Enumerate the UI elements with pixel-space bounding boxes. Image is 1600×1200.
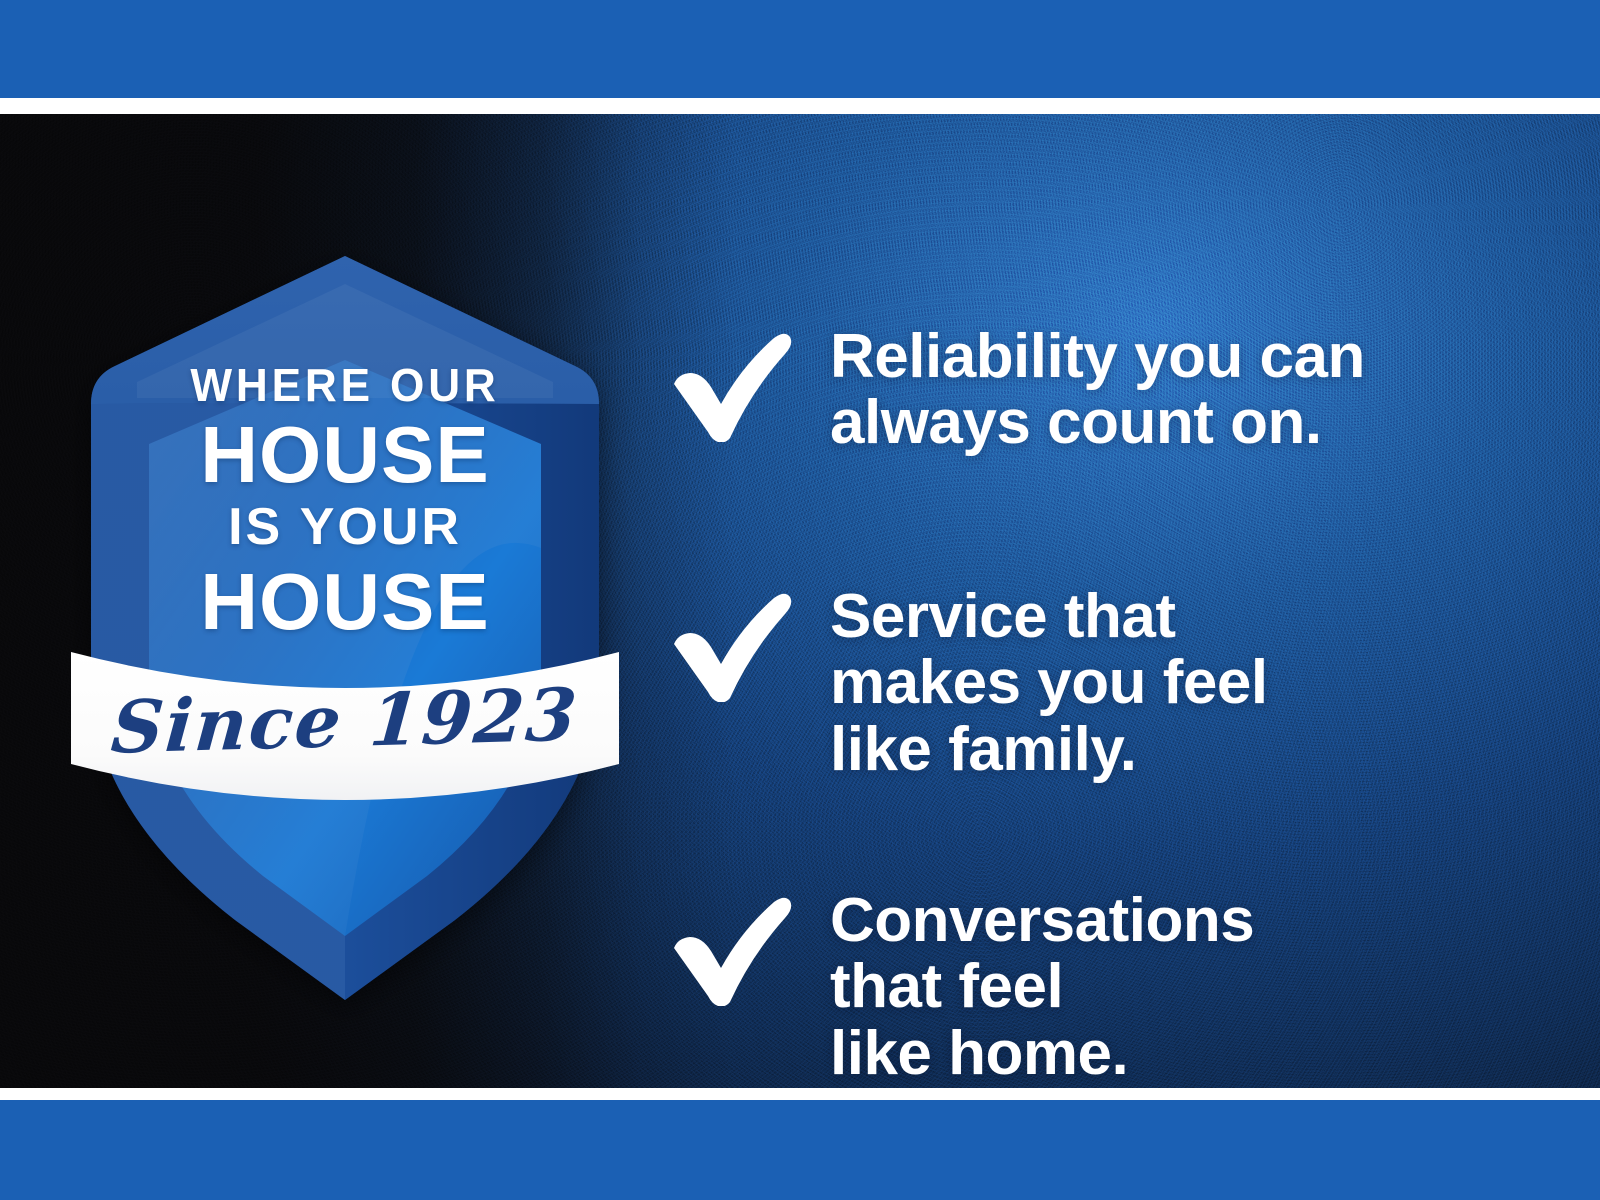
promo-graphic: WHERE OUR HOUSE IS YOUR HOUSE Since 1923… xyxy=(0,0,1600,1200)
main-stage: WHERE OUR HOUSE IS YOUR HOUSE Since 1923… xyxy=(0,114,1600,1088)
checklist-item-text: Reliability you can always count on. xyxy=(830,324,1365,457)
check-mark-icon xyxy=(668,330,794,442)
bottom-white-divider xyxy=(0,1088,1600,1100)
top-white-divider xyxy=(0,98,1600,114)
checklist-item-text: Service that makes you feel like family. xyxy=(830,584,1268,783)
checklist-item: Conversations that feel like home. xyxy=(668,888,1254,1087)
check-mark-icon xyxy=(668,894,794,1006)
check-mark-icon xyxy=(668,590,794,702)
checklist-item: Reliability you can always count on. xyxy=(668,324,1365,457)
top-brand-bar xyxy=(0,0,1600,98)
benefits-checklist: Reliability you can always count on. Ser… xyxy=(668,228,1568,1088)
shield-emblem: WHERE OUR HOUSE IS YOUR HOUSE Since 1923 xyxy=(55,248,635,948)
bottom-brand-bar xyxy=(0,1100,1600,1200)
checklist-item-text: Conversations that feel like home. xyxy=(830,888,1254,1087)
checklist-item: Service that makes you feel like family. xyxy=(668,584,1268,783)
